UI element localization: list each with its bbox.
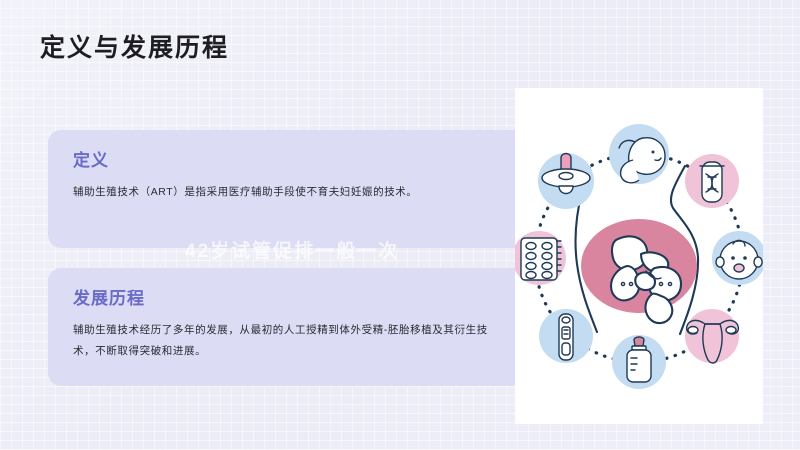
pill-blister-icon	[515, 231, 566, 285]
womb-with-twins	[581, 219, 697, 323]
pregnancy-test-icon	[539, 309, 593, 363]
fertility-illustration: .ln { fill:none; stroke:#1f3a56; stroke-…	[515, 88, 763, 424]
baby-bottle-icon	[612, 335, 666, 389]
slide-root: 定义与发展历程 定义 辅助生殖技术（ART）是指采用医疗辅助手段使不育夫妇妊娠的…	[0, 0, 800, 450]
history-card-body: 辅助生殖技术经历了多年的发展，从最初的人工授精到体外受精-胚胎移植及其衍生技术，…	[73, 320, 493, 362]
illustration-card: .ln { fill:none; stroke:#1f3a56; stroke-…	[515, 88, 763, 424]
fetus-icon	[609, 124, 669, 184]
page-title: 定义与发展历程	[40, 28, 229, 64]
uterus-icon	[685, 309, 739, 363]
history-card-heading: 发展历程	[73, 284, 145, 309]
baby-face-icon	[712, 231, 763, 285]
pacifier-icon	[538, 153, 594, 209]
dna-test-tube-icon	[685, 154, 739, 208]
definition-card-body: 辅助生殖技术（ART）是指采用医疗辅助手段使不育夫妇妊娠的技术。	[73, 182, 493, 203]
definition-card-heading: 定义	[73, 146, 109, 171]
definition-card: 定义 辅助生殖技术（ART）是指采用医疗辅助手段使不育夫妇妊娠的技术。	[48, 130, 568, 248]
history-card: 发展历程 辅助生殖技术经历了多年的发展，从最初的人工授精到体外受精-胚胎移植及其…	[48, 268, 568, 386]
